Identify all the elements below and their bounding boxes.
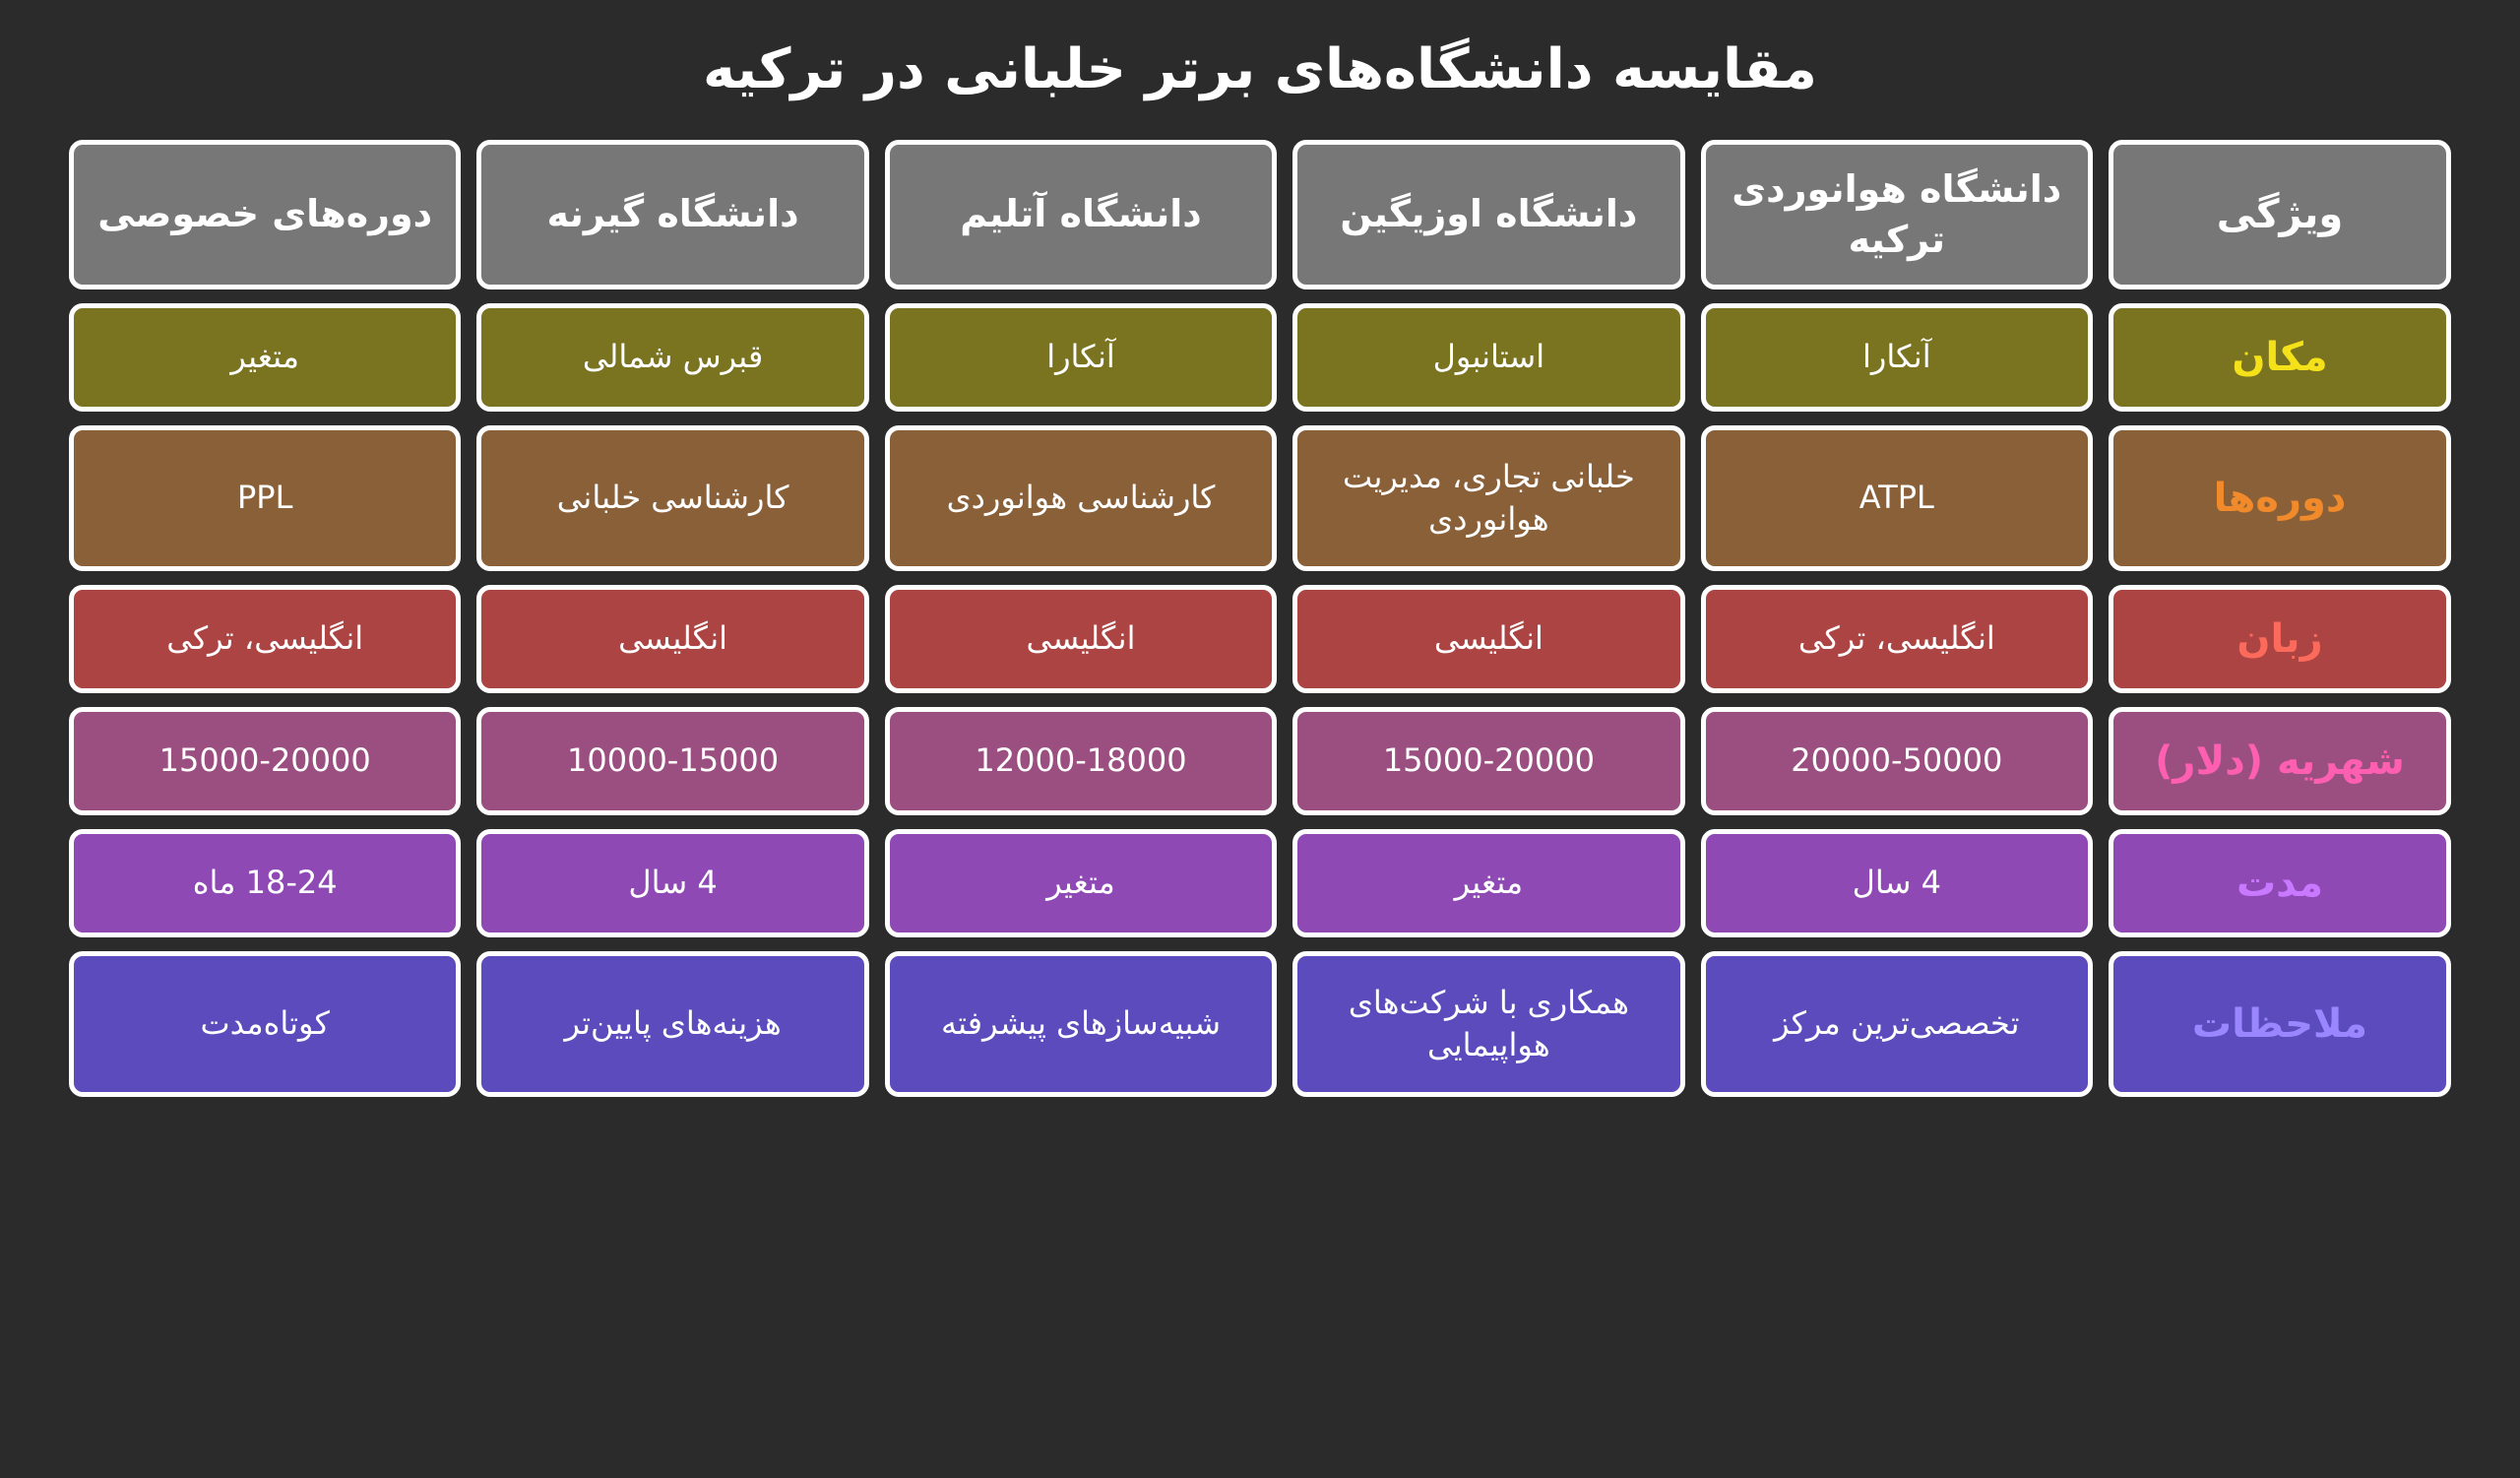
row-label-tuition: شهریه (دلار) bbox=[2109, 707, 2451, 815]
header-cell-ozyegin-university: دانشگاه اوزیگین bbox=[1292, 140, 1684, 289]
cell-language-ozyegin-university: انگلیسی bbox=[1292, 585, 1684, 693]
cell-language-private-courses: انگلیسی، ترکی bbox=[69, 585, 461, 693]
cell-language-atilim-university: انگلیسی bbox=[885, 585, 1277, 693]
cell-language-turkish-aviation-university: انگلیسی، ترکی bbox=[1701, 585, 2093, 693]
cell-courses-turkish-aviation-university: ATPL bbox=[1701, 425, 2093, 571]
cell-notes-atilim-university: شبیه‌سازهای پیشرفته bbox=[885, 951, 1277, 1097]
comparison-table-page: مقایسه دانشگاه‌های برتر خلبانی در ترکیه … bbox=[0, 0, 2520, 1478]
comparison-table: ویژگی دانشگاه هوانوردی ترکیه دانشگاه اوز… bbox=[69, 114, 2451, 1097]
cell-location-private-courses: متغیر bbox=[69, 303, 461, 412]
cell-courses-private-courses: PPL bbox=[69, 425, 461, 571]
header-cell-feature: ویژگی bbox=[2109, 140, 2451, 289]
cell-notes-ozyegin-university: همکاری با شرکت‌های هواپیمایی bbox=[1292, 951, 1684, 1097]
cell-location-turkish-aviation-university: آنکارا bbox=[1701, 303, 2093, 412]
table-row-language: زبان انگلیسی، ترکی انگلیسی انگلیسی انگلی… bbox=[69, 585, 2451, 693]
cell-notes-private-courses: کوتاه‌مدت bbox=[69, 951, 461, 1097]
table-row-tuition: شهریه (دلار) 20000-50000 15000-20000 120… bbox=[69, 707, 2451, 815]
row-label-notes: ملاحظات bbox=[2109, 951, 2451, 1097]
cell-duration-private-courses: 18-24 ماه bbox=[69, 829, 461, 937]
cell-courses-atilim-university: کارشناسی هوانوردی bbox=[885, 425, 1277, 571]
cell-tuition-ozyegin-university: 15000-20000 bbox=[1292, 707, 1684, 815]
cell-notes-turkish-aviation-university: تخصصی‌ترین مرکز bbox=[1701, 951, 2093, 1097]
cell-language-girne-university: انگلیسی bbox=[476, 585, 868, 693]
cell-duration-turkish-aviation-university: 4 سال bbox=[1701, 829, 2093, 937]
row-label-language: زبان bbox=[2109, 585, 2451, 693]
cell-duration-girne-university: 4 سال bbox=[476, 829, 868, 937]
cell-tuition-girne-university: 10000-15000 bbox=[476, 707, 868, 815]
cell-duration-ozyegin-university: متغیر bbox=[1292, 829, 1684, 937]
cell-location-ozyegin-university: استانبول bbox=[1292, 303, 1684, 412]
cell-location-girne-university: قبرس شمالی bbox=[476, 303, 868, 412]
header-cell-turkish-aviation-university: دانشگاه هوانوردی ترکیه bbox=[1701, 140, 2093, 289]
cell-tuition-turkish-aviation-university: 20000-50000 bbox=[1701, 707, 2093, 815]
row-label-courses: دوره‌ها bbox=[2109, 425, 2451, 571]
table-header-row: ویژگی دانشگاه هوانوردی ترکیه دانشگاه اوز… bbox=[69, 140, 2451, 289]
page-title: مقایسه دانشگاه‌های برتر خلبانی در ترکیه bbox=[0, 0, 2520, 114]
header-cell-girne-university: دانشگاه گیرنه bbox=[476, 140, 868, 289]
table-row-location: مکان آنکارا استانبول آنکارا قبرس شمالی م… bbox=[69, 303, 2451, 412]
cell-location-atilim-university: آنکارا bbox=[885, 303, 1277, 412]
table-row-notes: ملاحظات تخصصی‌ترین مرکز همکاری با شرکت‌ه… bbox=[69, 951, 2451, 1097]
row-label-duration: مدت bbox=[2109, 829, 2451, 937]
cell-courses-girne-university: کارشناسی خلبانی bbox=[476, 425, 868, 571]
table-row-duration: مدت 4 سال متغیر متغیر 4 سال 18-24 ماه bbox=[69, 829, 2451, 937]
cell-duration-atilim-university: متغیر bbox=[885, 829, 1277, 937]
cell-tuition-private-courses: 15000-20000 bbox=[69, 707, 461, 815]
row-label-location: مکان bbox=[2109, 303, 2451, 412]
table-row-courses: دوره‌ها ATPL خلبانی تجاری، مدیریت هوانور… bbox=[69, 425, 2451, 571]
cell-tuition-atilim-university: 12000-18000 bbox=[885, 707, 1277, 815]
cell-courses-ozyegin-university: خلبانی تجاری، مدیریت هوانوردی bbox=[1292, 425, 1684, 571]
header-cell-private-courses: دوره‌های خصوصی bbox=[69, 140, 461, 289]
header-cell-atilim-university: دانشگاه آتلیم bbox=[885, 140, 1277, 289]
cell-notes-girne-university: هزینه‌های پایین‌تر bbox=[476, 951, 868, 1097]
